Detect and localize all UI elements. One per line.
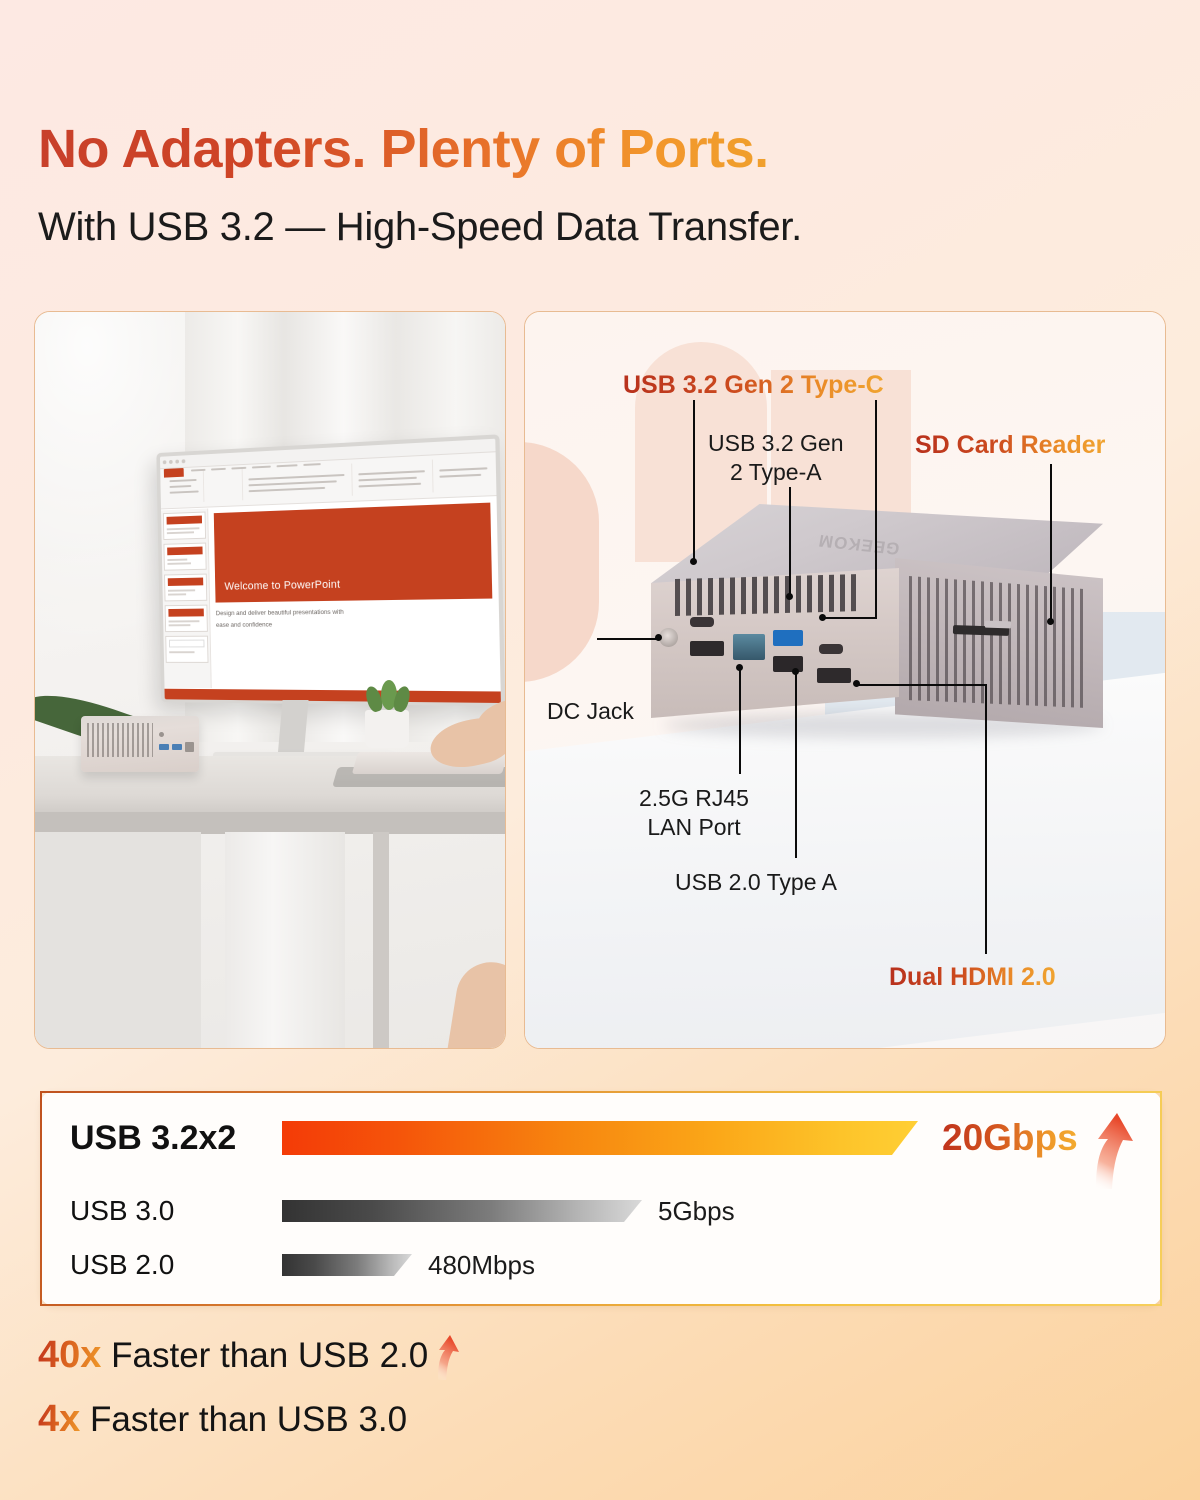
slide-thumbnail-strip	[161, 509, 212, 689]
speed-up-arrow-icon	[434, 1334, 460, 1380]
leader-dot	[819, 614, 826, 621]
leader-line	[875, 400, 877, 618]
leader-line	[825, 617, 877, 619]
desk-edge	[34, 812, 506, 834]
footer-line-4x: 4x Faster than USB 3.0	[38, 1398, 407, 1441]
footer-line-40x: 40x Faster than USB 2.0	[38, 1334, 428, 1377]
leader-line	[739, 668, 741, 774]
ports-panel-background: GEEKOM USB 3.2 Gen 2 Type-C U	[525, 312, 1165, 1048]
leader-dot	[853, 680, 860, 687]
decorative-shape	[524, 442, 599, 682]
hdmi-port-1	[690, 641, 724, 656]
vent-grille-icon	[87, 723, 153, 757]
list-item	[163, 543, 206, 571]
powerpoint-editor: Welcome to PowerPoint Design and deliver…	[161, 497, 501, 690]
sd-card-chip	[985, 621, 1011, 629]
slide-subtitle-text: Design and deliver beautiful presentatio…	[216, 605, 493, 633]
callout-usb32-gen2-typea: USB 3.2 Gen 2 Type-A	[708, 429, 844, 487]
usb-3-port-blue	[773, 630, 803, 646]
callout-dc-jack: DC Jack	[547, 697, 634, 726]
usb-c-port-bottom	[819, 644, 843, 654]
vent-grille-icon	[909, 576, 1087, 708]
leader-dot	[792, 668, 799, 675]
chart-category-label: USB 3.2x2	[70, 1119, 282, 1158]
leader-dot	[690, 558, 697, 565]
photo-scene: Welcome to PowerPoint Design and deliver…	[35, 312, 505, 1048]
usb-c-port-top	[690, 617, 714, 627]
chart-category-label: USB 3.0	[70, 1195, 282, 1227]
chart-bar-usb32x2	[282, 1121, 918, 1155]
footer-text-1: Faster than USB 2.0	[111, 1336, 428, 1375]
chart-value-label-usb32x2: 20Gbps	[942, 1117, 1078, 1159]
chart-row-usb20: USB 2.0 480Mbps	[70, 1249, 1130, 1281]
callout-line1: 2.5G RJ45	[639, 784, 749, 813]
multiplier-4x: 4x	[38, 1398, 80, 1440]
leader-line	[789, 487, 791, 597]
chart-value-label-usb20: 480Mbps	[428, 1250, 535, 1281]
leader-dot	[1047, 618, 1054, 625]
hdmi-port-2	[817, 668, 851, 683]
leader-line	[985, 684, 987, 954]
desk-workspace-photo: Welcome to PowerPoint Design and deliver…	[34, 311, 506, 1049]
leader-dot	[655, 634, 662, 641]
footer-text-2: Faster than USB 3.0	[90, 1400, 407, 1439]
leader-line	[795, 672, 797, 858]
chart-row-usb30: USB 3.0 5Gbps	[70, 1195, 1130, 1227]
chart-category-label: USB 2.0	[70, 1249, 282, 1281]
page-title: No Adapters. Plenty of Ports.	[38, 118, 769, 180]
leader-dot	[736, 664, 743, 671]
chart-bar-usb20	[282, 1254, 412, 1276]
floor-backdrop	[225, 832, 345, 1049]
chart-bar-usb30	[282, 1200, 642, 1222]
page-subtitle: With USB 3.2 — High-Speed Data Transfer.	[38, 205, 802, 250]
leader-dot	[786, 593, 793, 600]
chart-row-usb32x2: USB 3.2x2 20Gbps	[70, 1117, 1130, 1159]
mini-pc-on-desk	[81, 716, 199, 772]
leader-line	[597, 638, 659, 640]
monitor-screen: Welcome to PowerPoint Design and deliver…	[160, 439, 501, 703]
cabinet	[34, 832, 201, 1049]
callout-sd-card-reader: SD Card Reader	[915, 430, 1105, 461]
slide-title-text: Welcome to PowerPoint	[224, 579, 340, 593]
list-item	[163, 512, 206, 540]
leader-line	[1050, 464, 1052, 622]
powerpoint-status-bar	[165, 689, 501, 703]
desk-leg	[373, 832, 389, 1049]
ports-diagram-panel: GEEKOM USB 3.2 Gen 2 Type-C U	[524, 311, 1166, 1049]
leader-line	[859, 684, 987, 686]
vent-grille-icon	[675, 574, 861, 616]
callout-dual-hdmi: Dual HDMI 2.0	[889, 962, 1056, 993]
callout-rj45-lan: 2.5G RJ45 LAN Port	[639, 784, 749, 842]
monitor-stand-neck	[277, 700, 308, 758]
callout-usb20-typea: USB 2.0 Type A	[675, 868, 837, 897]
list-item	[165, 605, 208, 632]
slide-subtitle-line2: ease and confidence	[216, 618, 493, 633]
speed-up-arrow-icon	[1090, 1111, 1134, 1189]
multiplier-40x: 40x	[38, 1334, 101, 1376]
rj45-lan-port	[733, 634, 765, 660]
callout-line2: 2 Type-A	[708, 458, 844, 487]
leader-line	[693, 400, 695, 562]
list-item	[164, 574, 207, 602]
slide-canvas: Welcome to PowerPoint Design and deliver…	[208, 497, 500, 690]
callout-line2: LAN Port	[639, 813, 749, 842]
callout-usb32-gen2-typec: USB 3.2 Gen 2 Type-C	[623, 370, 884, 401]
plant-pot	[365, 710, 409, 748]
chart-value-label-usb30: 5Gbps	[658, 1196, 735, 1227]
usb-speed-comparison-chart: USB 3.2x2 20Gbps USB 3.0 5Gbps USB 2.0 4…	[40, 1091, 1162, 1306]
monitor: Welcome to PowerPoint Design and deliver…	[156, 434, 505, 706]
callout-line1: USB 3.2 Gen	[708, 429, 844, 458]
slide-title-block: Welcome to PowerPoint	[214, 503, 493, 603]
person-arm	[445, 957, 506, 1049]
list-item	[165, 636, 208, 663]
